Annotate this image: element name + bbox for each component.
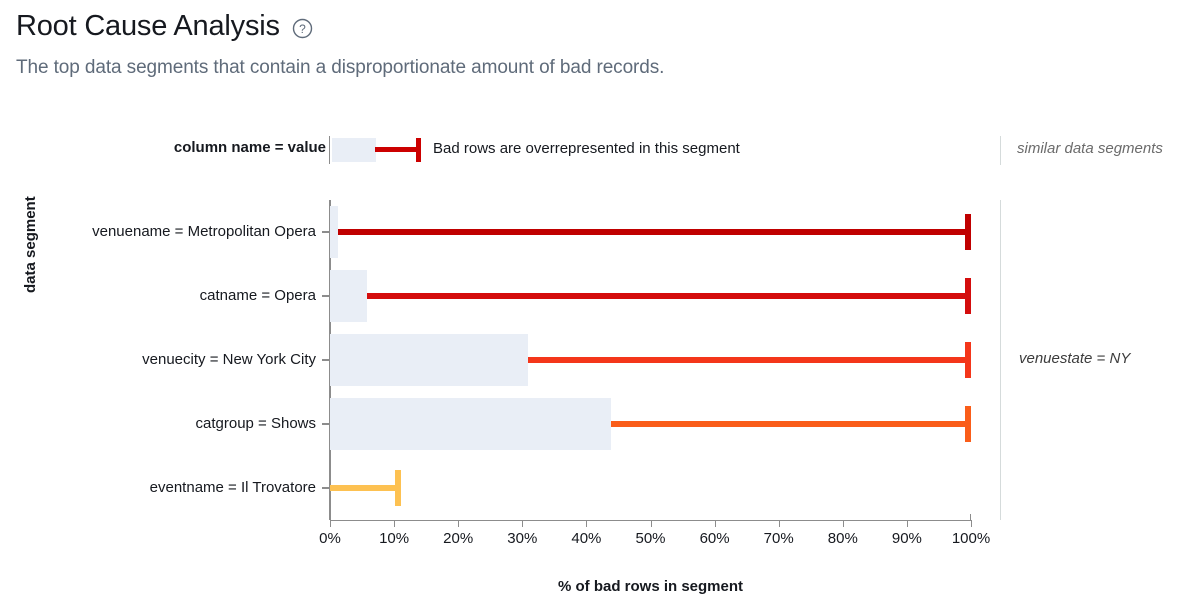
x-axis-tick <box>522 520 523 527</box>
x-axis-tick <box>907 520 908 527</box>
chart-row[interactable]: catgroup = Shows <box>330 392 971 456</box>
y-axis-title: data segment <box>22 196 39 293</box>
chart-row[interactable]: venuecity = New York City <box>330 328 971 392</box>
y-axis-tick-label[interactable]: venuename = Metropolitan Opera <box>92 223 316 240</box>
segment-size-bar <box>330 206 338 258</box>
bad-rows-line <box>330 485 401 491</box>
plot-area: venuename = Metropolitan Operacatname = … <box>330 200 971 520</box>
x-axis-tick-label: 30% <box>507 530 537 547</box>
x-axis-tick-label: 80% <box>828 530 858 547</box>
y-axis-tick <box>322 295 329 297</box>
plot-separator <box>1000 200 1001 520</box>
y-axis-tick-label[interactable]: venuecity = New York City <box>142 351 316 368</box>
legend-description: Bad rows are overrepresented in this seg… <box>433 140 740 157</box>
bad-rows-line-cap <box>395 470 401 506</box>
chart-row[interactable]: eventname = Il Trovatore <box>330 456 971 520</box>
x-axis-tick-label: 20% <box>443 530 473 547</box>
x-axis-tick <box>330 520 331 527</box>
x-axis-tick-label: 10% <box>379 530 409 547</box>
chart-row[interactable]: catname = Opera <box>330 264 971 328</box>
y-axis-tick <box>322 487 329 489</box>
bad-rows-line <box>338 229 971 235</box>
y-axis-tick-label[interactable]: catgroup = Shows <box>196 415 317 432</box>
root-cause-chart: column name = value Bad rows are overrep… <box>0 0 1200 614</box>
bad-rows-line <box>611 421 971 427</box>
segment-size-bar <box>330 398 611 450</box>
segment-size-bar <box>330 334 528 386</box>
legend-line-swatch <box>375 147 421 152</box>
x-axis-tick <box>843 520 844 527</box>
y-axis-tick <box>322 231 329 233</box>
x-axis-tick <box>458 520 459 527</box>
x-axis-tick-label: 40% <box>571 530 601 547</box>
segment-size-bar <box>330 270 367 322</box>
x-axis-tick <box>971 520 972 527</box>
legend-tick-mark <box>329 136 330 164</box>
x-axis-tick <box>394 520 395 527</box>
x-axis-tick-label: 50% <box>635 530 665 547</box>
y-axis-tick <box>322 423 329 425</box>
x-axis-tick <box>651 520 652 527</box>
x-axis-tick-label: 70% <box>764 530 794 547</box>
x-axis-tick-label: 90% <box>892 530 922 547</box>
x-axis-tick <box>586 520 587 527</box>
bad-rows-line-cap <box>965 278 971 314</box>
x-axis-tick <box>715 520 716 527</box>
legend-sample-label: column name = value <box>174 139 326 156</box>
x-axis-tick-label: 0% <box>319 530 341 547</box>
bad-rows-line-cap <box>965 342 971 378</box>
bad-rows-line-cap <box>965 214 971 250</box>
legend-bar-swatch <box>332 138 376 162</box>
y-axis-tick-label[interactable]: catname = Opera <box>200 287 316 304</box>
cluster-annotation-label: venuestate = NY <box>1019 350 1130 367</box>
y-axis-tick-label[interactable]: eventname = Il Trovatore <box>150 479 316 496</box>
chart-row[interactable]: venuename = Metropolitan Opera <box>330 200 971 264</box>
legend-separator <box>1000 136 1001 165</box>
x-axis-tick <box>779 520 780 527</box>
x-axis-tick-label: 60% <box>700 530 730 547</box>
bad-rows-line <box>528 357 971 363</box>
x-axis-title: % of bad rows in segment <box>330 578 971 595</box>
y-axis-tick <box>322 359 329 361</box>
bad-rows-line-cap <box>965 406 971 442</box>
legend-line-cap <box>416 138 421 162</box>
chart-legend: column name = value Bad rows are overrep… <box>0 136 1200 166</box>
legend-similar-segments-label: similar data segments <box>1017 140 1163 157</box>
bad-rows-line <box>367 293 971 299</box>
x-axis-tick-label: 100% <box>952 530 990 547</box>
